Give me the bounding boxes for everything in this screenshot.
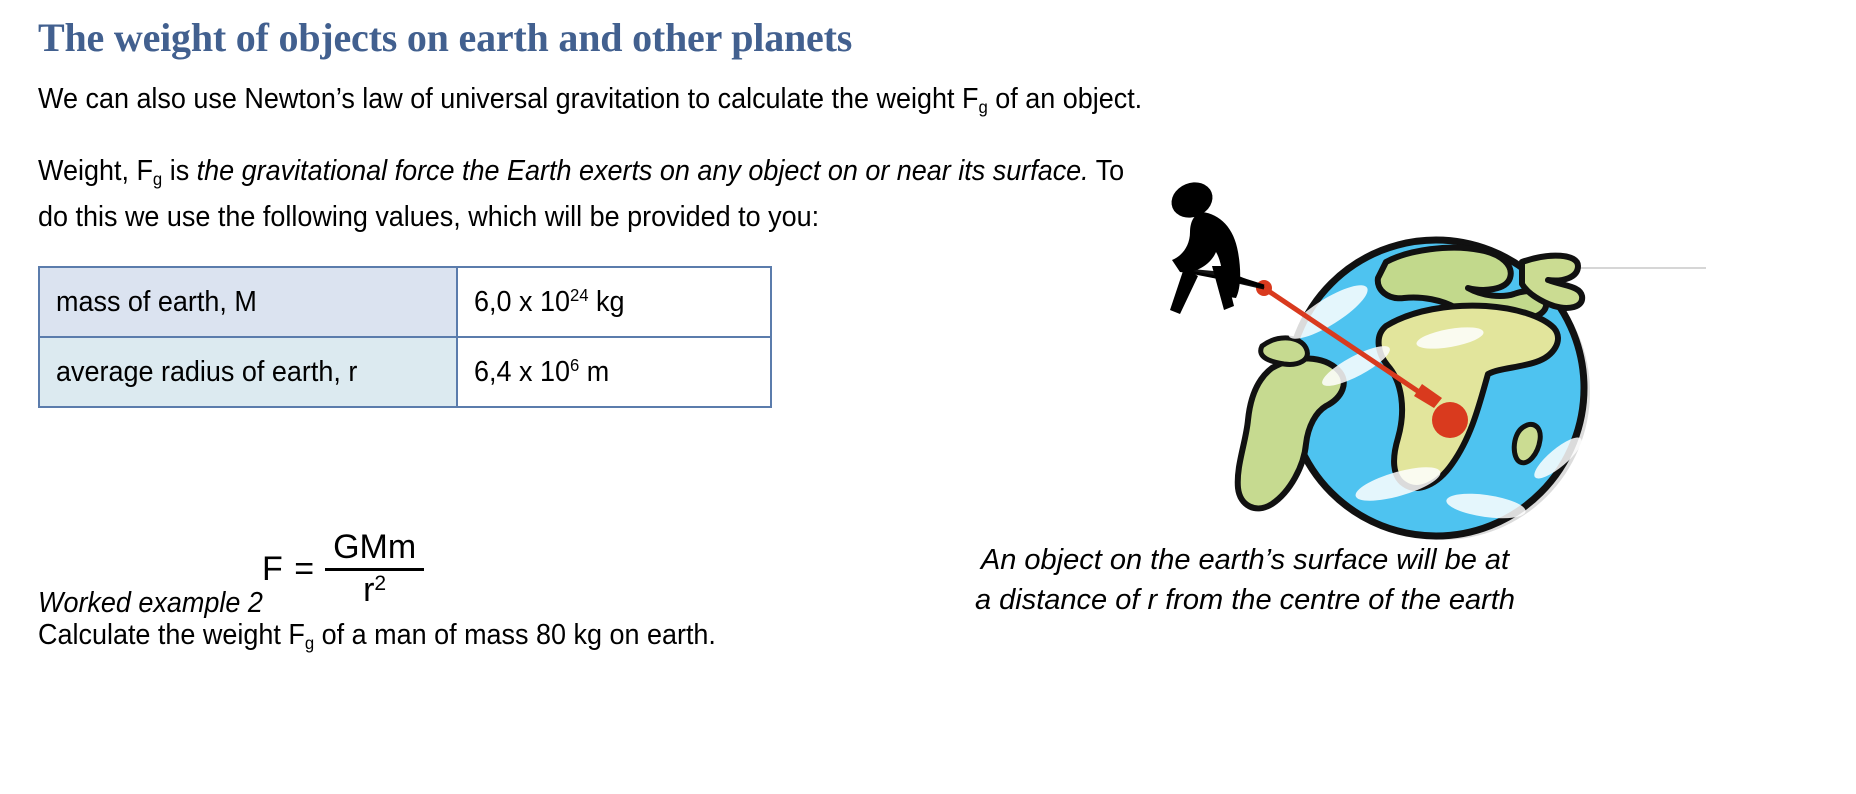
table-row: average radius of earth, r 6,4 x 106 m bbox=[39, 337, 771, 407]
table-cell-value: 6,0 x 1024 kg bbox=[457, 267, 771, 337]
formula-denominator-exponent: 2 bbox=[374, 572, 386, 595]
mass-label: mass of earth, M bbox=[56, 286, 257, 319]
definition-subscript-g: g bbox=[153, 169, 162, 189]
definition-lead: Weight, F bbox=[38, 155, 153, 187]
radius-value-unit: m bbox=[579, 356, 609, 388]
mass-value-mantissa: 6,0 x 10 bbox=[474, 286, 570, 318]
intro-subscript-g: g bbox=[978, 97, 987, 117]
definition-paragraph: Weight, Fg is the gravitational force th… bbox=[38, 148, 1135, 240]
north-america-landmass bbox=[1261, 338, 1308, 364]
formula-denominator-base: r bbox=[363, 571, 374, 609]
question-text-before: Calculate the weight F bbox=[38, 619, 305, 651]
person-figure bbox=[1166, 176, 1240, 314]
values-table: mass of earth, M 6,0 x 1024 kg average r… bbox=[38, 266, 772, 408]
mass-value-unit: kg bbox=[589, 286, 625, 318]
mass-value-exponent: 24 bbox=[570, 285, 589, 305]
radius-value: 6,4 x 106 m bbox=[474, 356, 609, 389]
earth-illustration bbox=[1150, 170, 1790, 540]
radius-label: average radius of earth, r bbox=[56, 356, 357, 389]
definition-italic-clause: the gravitational force the Earth exerts… bbox=[197, 155, 1089, 187]
worked-example-question: Calculate the weight Fg of a man of mass… bbox=[38, 612, 716, 658]
table-cell-label: mass of earth, M bbox=[39, 267, 457, 337]
mass-value: 6,0 x 1024 kg bbox=[474, 286, 625, 319]
radius-value-mantissa: 6,4 x 10 bbox=[474, 356, 570, 388]
table-cell-label: average radius of earth, r bbox=[39, 337, 457, 407]
illustration-caption: An object on the earth’s surface will be… bbox=[940, 540, 1550, 620]
intro-text-after: of an object. bbox=[988, 83, 1142, 115]
table-cell-value: 6,4 x 106 m bbox=[457, 337, 771, 407]
formula-lhs: F = bbox=[262, 550, 315, 589]
formula-numerator: GMm bbox=[325, 530, 424, 568]
question-text-after: of a man of mass 80 kg on earth. bbox=[314, 619, 716, 651]
table-row: mass of earth, M 6,0 x 1024 kg bbox=[39, 267, 771, 337]
formula-fraction: GMm r2 bbox=[325, 530, 424, 608]
slide-canvas: The weight of objects on earth and other… bbox=[0, 0, 1856, 794]
gravitation-formula: F = GMm r2 bbox=[262, 530, 424, 608]
definition-is: is bbox=[162, 155, 196, 187]
caption-line-1: An object on the earth’s surface will be… bbox=[940, 540, 1550, 580]
radius-value-exponent: 6 bbox=[570, 355, 579, 375]
page-title: The weight of objects on earth and other… bbox=[38, 12, 852, 64]
question-subscript-g: g bbox=[305, 633, 314, 653]
intro-text-before: We can also use Newton’s law of universa… bbox=[38, 83, 978, 115]
intro-paragraph: We can also use Newton’s law of universa… bbox=[38, 76, 1142, 122]
earth-centre-point bbox=[1432, 402, 1468, 438]
caption-line-2: a distance of r from the centre of the e… bbox=[940, 580, 1550, 620]
formula-denominator: r2 bbox=[355, 571, 394, 609]
